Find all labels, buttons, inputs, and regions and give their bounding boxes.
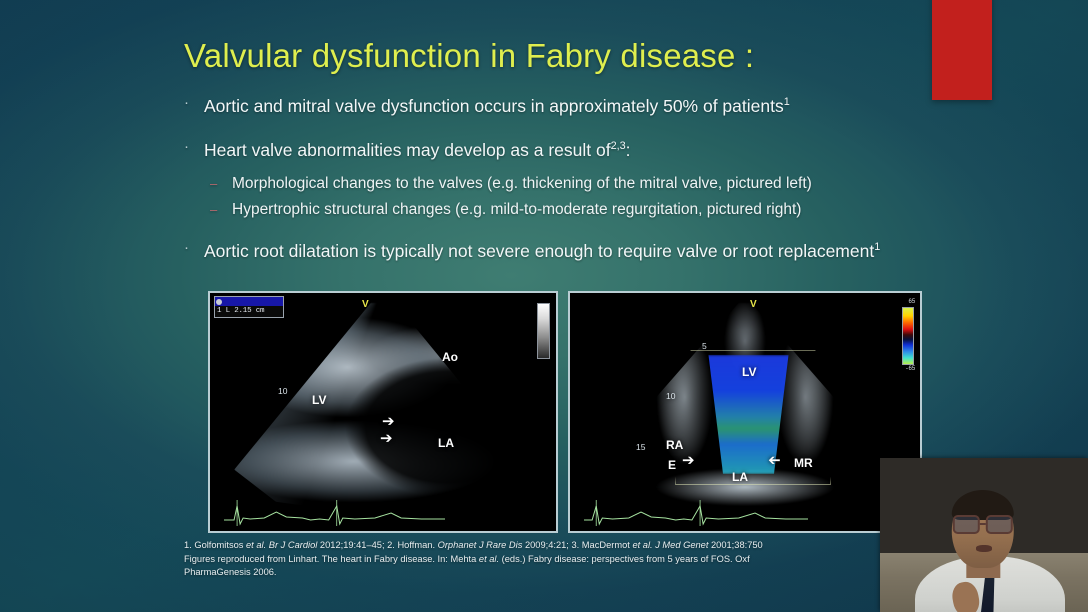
bullet-text-wrapper: Heart valve abnormalities may develop as…: [204, 134, 944, 163]
bullet-text: Heart valve abnormalities may develop as…: [204, 140, 611, 160]
echocardiogram-image-left: 1 L 2.15 cm V Ao LV LA 10 ➔ ➔: [208, 291, 558, 533]
annotation-arrow-icon: ➔: [768, 453, 781, 468]
reference-line-1: 1. Golfomitsos et al. Br J Cardiol 2012;…: [184, 539, 904, 553]
bullet-marker-icon: ·: [184, 235, 204, 260]
presenter-glasses: [953, 516, 1013, 532]
bullet-marker-icon: ·: [184, 134, 204, 159]
label-e-wave: E: [668, 458, 676, 472]
slide-body: · Aortic and mitral valve dysfunction oc…: [184, 90, 944, 278]
sub-bullet-group: – Morphological changes to the valves (e…: [184, 172, 944, 221]
annotation-arrow-icon: ➔: [382, 414, 395, 429]
ecg-trace-left: [224, 498, 445, 528]
ref-text: 2001;38:750: [708, 540, 762, 550]
bullet-superscript: 2,3: [611, 140, 626, 152]
label-left-ventricle: LV: [312, 393, 326, 407]
label-left-atrium: LA: [438, 436, 454, 450]
ref-italic: et al.: [246, 540, 266, 550]
ref-text: (eds.) Fabry disease: perspectives from …: [499, 554, 750, 564]
bullet-superscript: 1: [874, 241, 880, 253]
bullet-text-wrapper: Aortic and mitral valve dysfunction occu…: [204, 90, 944, 119]
measurement-value: 1 L 2.15 cm: [215, 306, 283, 317]
ref-italic: et al.: [479, 554, 499, 564]
sub-bullet-marker-icon: –: [210, 172, 232, 195]
red-accent-block: [932, 0, 992, 100]
doppler-color-scale: [902, 307, 914, 365]
label-aorta: Ao: [442, 350, 458, 364]
presenter-mouth: [976, 545, 992, 552]
bullet-item: · Aortic root dilatation is typically no…: [184, 235, 944, 264]
glasses-lens-left: [953, 515, 980, 534]
sub-bullet-item: – Morphological changes to the valves (e…: [184, 172, 944, 195]
sub-bullet-text: Hypertrophic structural changes (e.g. mi…: [232, 198, 801, 221]
depth-marker-10-right: 10: [666, 391, 675, 401]
references-block: 1. Golfomitsos et al. Br J Cardiol 2012;…: [184, 539, 904, 580]
bullet-item: · Aortic and mitral valve dysfunction oc…: [184, 90, 944, 119]
slide-title: Valvular dysfunction in Fabry disease :: [184, 37, 754, 75]
presentation-slide: Valvular dysfunction in Fabry disease : …: [0, 0, 1088, 612]
reference-line-2: Figures reproduced from Linhart. The hea…: [184, 553, 904, 567]
info-box-titlebar: [215, 297, 283, 306]
bullet-item: · Heart valve abnormalities may develop …: [184, 134, 944, 163]
reference-line-3: PharmaGenesis 2006.: [184, 566, 904, 580]
ref-journal: Orphanet J Rare Dis: [438, 540, 523, 550]
bullet-text-wrapper: Aortic root dilatation is typically not …: [204, 235, 944, 264]
echocardiogram-image-right: 65 -65 V LV LA RA E MR 5 10 15 ➔ ➔: [568, 291, 922, 533]
depth-marker-15: 15: [636, 442, 645, 452]
bullet-tail: :: [626, 140, 631, 160]
label-apex-left: V: [362, 299, 369, 310]
ref-text: 2012;19:41–45; 2. Hoffman.: [317, 540, 437, 550]
bullet-superscript: 1: [784, 96, 790, 108]
ultrasound-info-box: 1 L 2.15 cm: [214, 296, 284, 318]
glasses-bridge: [979, 523, 986, 525]
ecg-waveform: [584, 498, 808, 528]
ref-italic: et al.: [632, 540, 652, 550]
ref-text: 1. Golfomitsos: [184, 540, 246, 550]
sub-bullet-text: Morphological changes to the valves (e.g…: [232, 172, 812, 195]
label-apex-right: V: [750, 299, 757, 310]
glasses-lens-right: [986, 515, 1013, 534]
label-left-atrium-right: LA: [732, 470, 748, 484]
grayscale-bar: [537, 303, 550, 359]
colorbar-bottom-value: -65: [905, 365, 915, 372]
sub-bullet-marker-icon: –: [210, 198, 232, 221]
webcam-video-overlay[interactable]: [880, 458, 1088, 612]
bullet-text: Aortic root dilatation is typically not …: [204, 240, 874, 260]
annotation-arrow-icon: ➔: [380, 431, 393, 446]
ref-journal: J Med Genet: [655, 540, 708, 550]
sub-bullet-item: – Hypertrophic structural changes (e.g. …: [184, 198, 944, 221]
ref-journal: Br J Cardiol: [269, 540, 318, 550]
probe-icon: [216, 299, 222, 305]
ecg-trace-right: [584, 498, 808, 528]
depth-marker-10-left: 10: [278, 386, 287, 396]
label-mitral-regurgitation: MR: [794, 456, 813, 470]
depth-marker-5: 5: [702, 341, 707, 351]
ecg-waveform: [224, 498, 445, 528]
colorbar-top-value: 65: [908, 298, 915, 305]
label-left-ventricle-right: LV: [742, 365, 756, 379]
ref-text: 2009;4:21; 3. MacDermot: [522, 540, 632, 550]
ultrasound-sector-left: [234, 303, 532, 517]
annotation-arrow-icon: ➔: [682, 453, 695, 468]
bullet-marker-icon: ·: [184, 90, 204, 115]
bullet-text: Aortic and mitral valve dysfunction occu…: [204, 96, 784, 116]
label-right-atrium: RA: [666, 438, 683, 452]
ref-text: Figures reproduced from Linhart. The hea…: [184, 554, 479, 564]
